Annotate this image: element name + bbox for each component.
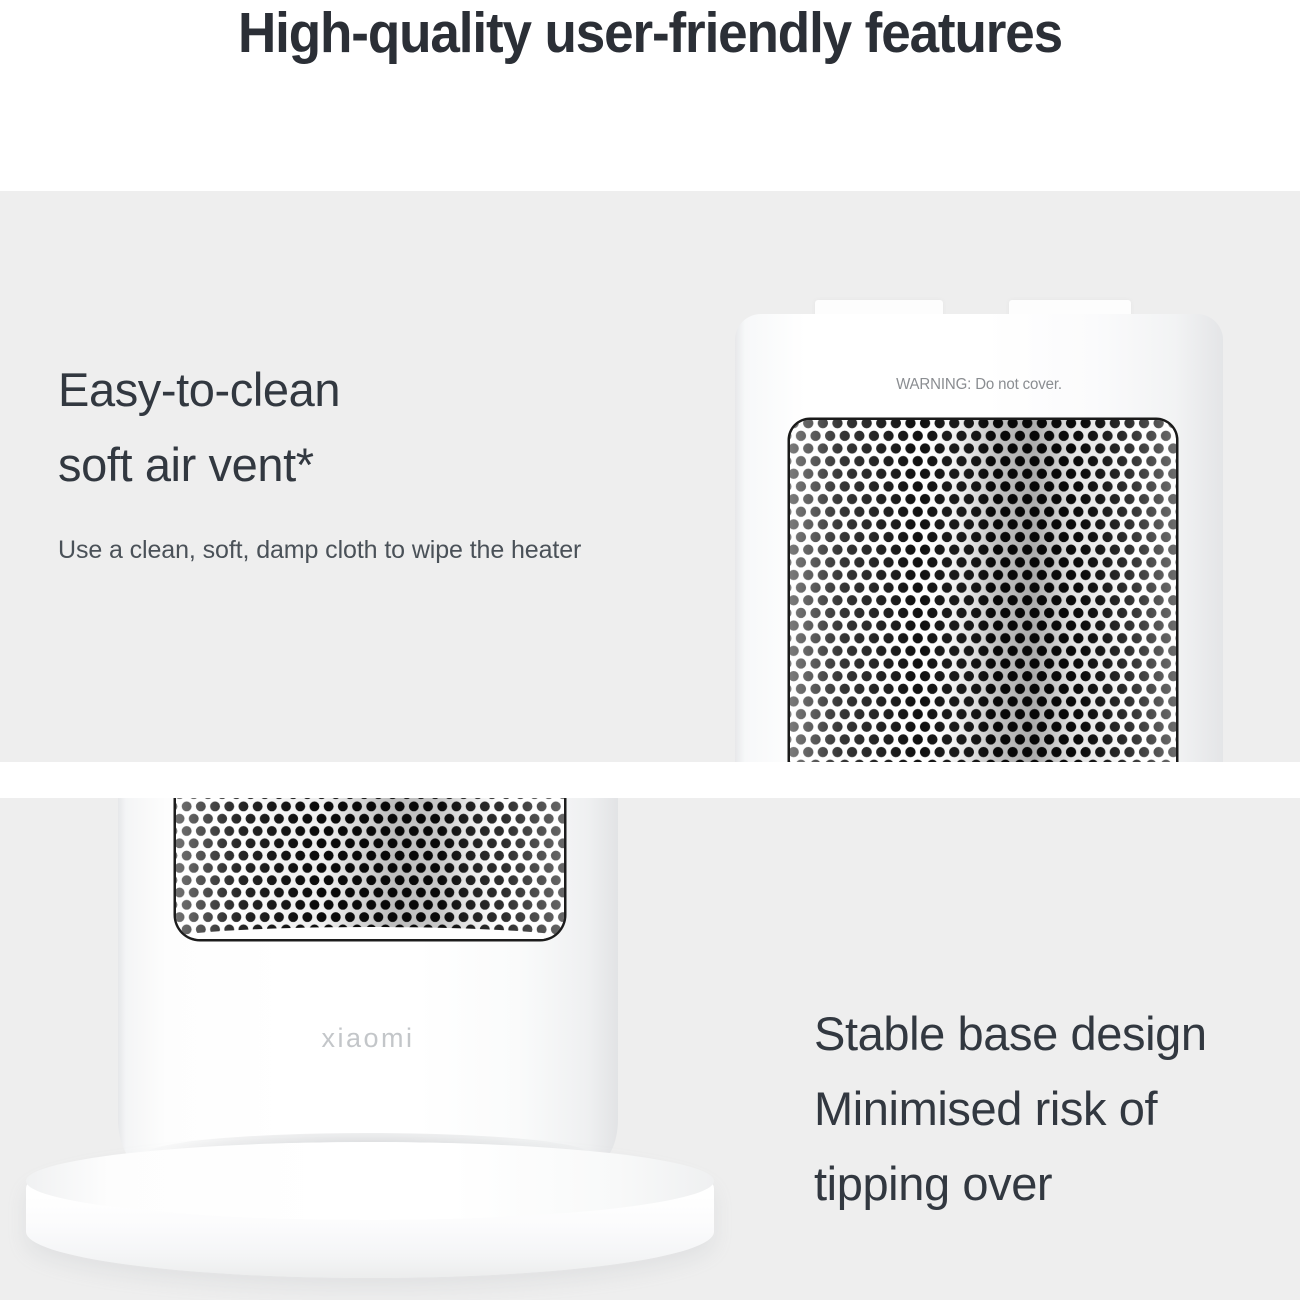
easy-to-clean-subtext: Use a clean, soft, damp cloth to wipe th… xyxy=(58,528,638,572)
air-vent-grille-bottom xyxy=(176,798,564,939)
dot-mesh-pattern-icon xyxy=(790,420,1176,762)
xiaomi-brand-logo: xiaomi xyxy=(118,1023,618,1054)
warning-label: WARNING: Do not cover. xyxy=(742,376,1215,394)
air-vent-grille-top xyxy=(790,420,1176,762)
easy-to-clean-heading-line-2: soft air vent* xyxy=(58,427,678,502)
section-stable-base: xiaomi Stable base design Minimised risk… xyxy=(0,798,1300,1300)
heater-base-shell: xiaomi xyxy=(118,798,618,1163)
page-title: High-quality user-friendly features xyxy=(46,2,1255,64)
dot-mesh-pattern-icon xyxy=(176,798,564,939)
easy-to-clean-text-block: Easy-to-clean soft air vent* Use a clean… xyxy=(58,352,678,572)
easy-to-clean-heading-line-1: Easy-to-clean xyxy=(58,352,678,427)
product-feature-page: High-quality user-friendly features Easy… xyxy=(0,0,1300,1300)
section-easy-to-clean: Easy-to-clean soft air vent* Use a clean… xyxy=(0,191,1300,762)
stable-base-heading-line-2: Minimised risk of xyxy=(814,1071,1294,1146)
stable-base-heading-line-1: Stable base design xyxy=(814,996,1294,1071)
page-header: High-quality user-friendly features xyxy=(0,0,1300,191)
heater-upper-shell: WARNING: Do not cover. xyxy=(735,314,1223,762)
stable-base-heading-line-3: tipping over xyxy=(814,1146,1294,1221)
circular-plinth-top-face xyxy=(26,1142,714,1220)
heater-upper-body-image: WARNING: Do not cover. xyxy=(735,300,1223,762)
heater-base-image: xiaomi xyxy=(118,798,618,1255)
stable-base-text-block: Stable base design Minimised risk of tip… xyxy=(814,996,1294,1221)
